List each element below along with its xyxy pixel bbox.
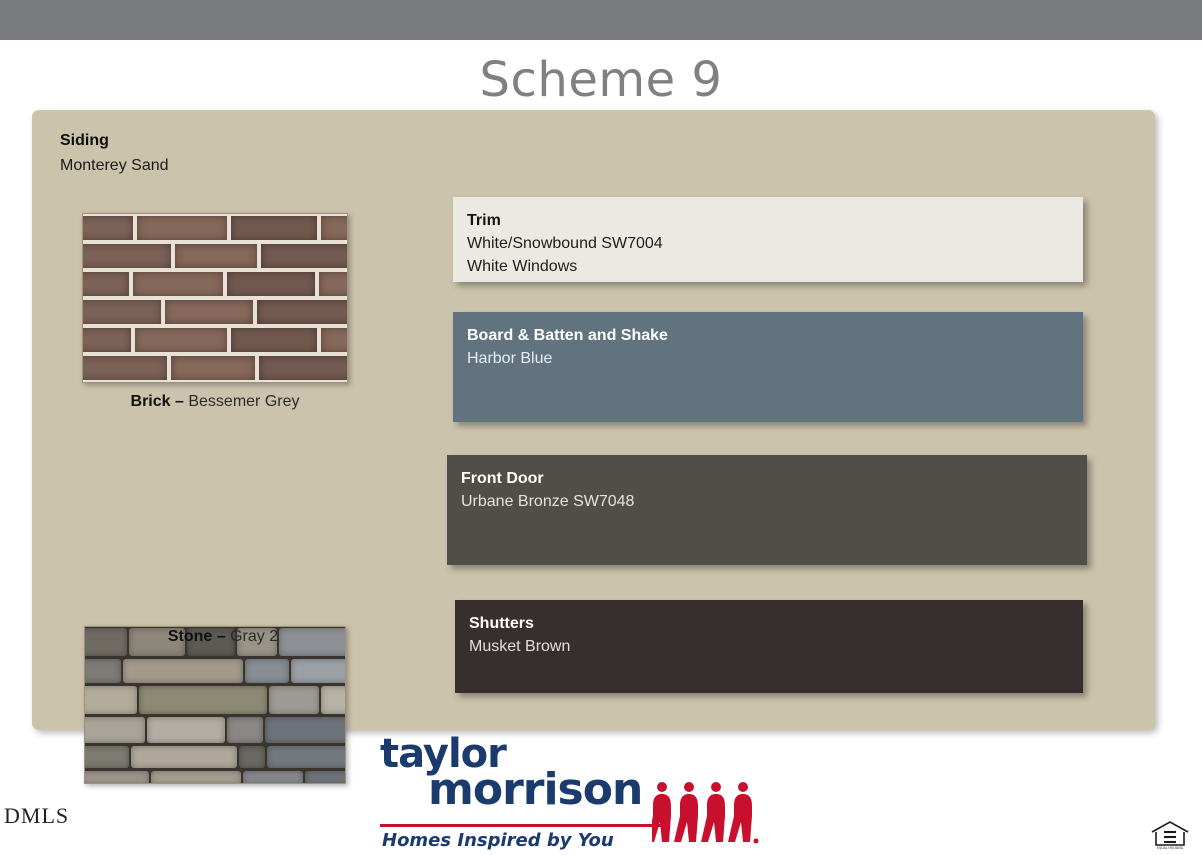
stone-caption-label: Stone – bbox=[168, 628, 226, 645]
board-batten-line1: Harbor Blue bbox=[467, 347, 1083, 370]
color-block-shutters: Shutters Musket Brown bbox=[455, 600, 1083, 693]
front-door-label: Front Door bbox=[461, 467, 1087, 490]
shutters-line1: Musket Brown bbox=[469, 635, 1083, 658]
stone-texture bbox=[85, 627, 345, 783]
brick-texture bbox=[83, 214, 347, 382]
four-figures-icon bbox=[652, 779, 760, 845]
trim-label: Trim bbox=[467, 209, 1083, 232]
brick-caption: Brick – Bessemer Grey bbox=[50, 393, 380, 411]
brick-swatch-image bbox=[82, 213, 348, 383]
stone-caption-value: Gray 2 bbox=[230, 628, 278, 645]
equal-housing-opportunity-icon: EQUAL HOUSING bbox=[1148, 818, 1192, 851]
stone-swatch-image bbox=[84, 626, 346, 784]
stone-caption: Stone – Gray 2 bbox=[58, 628, 388, 646]
taylor-morrison-logo: taylor morrison Homes Inspired by You bbox=[380, 731, 760, 849]
siding-label: Siding bbox=[60, 132, 109, 150]
siding-value: Monterey Sand bbox=[60, 157, 169, 175]
logo-rule bbox=[380, 824, 662, 827]
brick-caption-value: Bessemer Grey bbox=[188, 393, 299, 410]
page-title: Scheme 9 bbox=[0, 52, 1202, 108]
logo-tagline: Homes Inspired by You bbox=[382, 830, 614, 851]
color-block-front-door: Front Door Urbane Bronze SW7048 bbox=[447, 455, 1087, 565]
trim-line2: White Windows bbox=[467, 255, 1083, 278]
top-gray-bar bbox=[0, 0, 1202, 40]
color-block-trim: Trim White/Snowbound SW7004 White Window… bbox=[453, 197, 1083, 282]
color-block-board-batten: Board & Batten and Shake Harbor Blue bbox=[453, 312, 1083, 422]
brick-caption-label: Brick – bbox=[131, 393, 184, 410]
board-batten-label: Board & Batten and Shake bbox=[467, 324, 1083, 347]
shutters-label: Shutters bbox=[469, 612, 1083, 635]
eho-line1: EQUAL HOUSING bbox=[1157, 846, 1184, 850]
logo-word-morrison: morrison bbox=[428, 764, 642, 815]
trim-line1: White/Snowbound SW7004 bbox=[467, 232, 1083, 255]
watermark-text: DMLS bbox=[4, 803, 69, 829]
front-door-line1: Urbane Bronze SW7048 bbox=[461, 490, 1087, 513]
